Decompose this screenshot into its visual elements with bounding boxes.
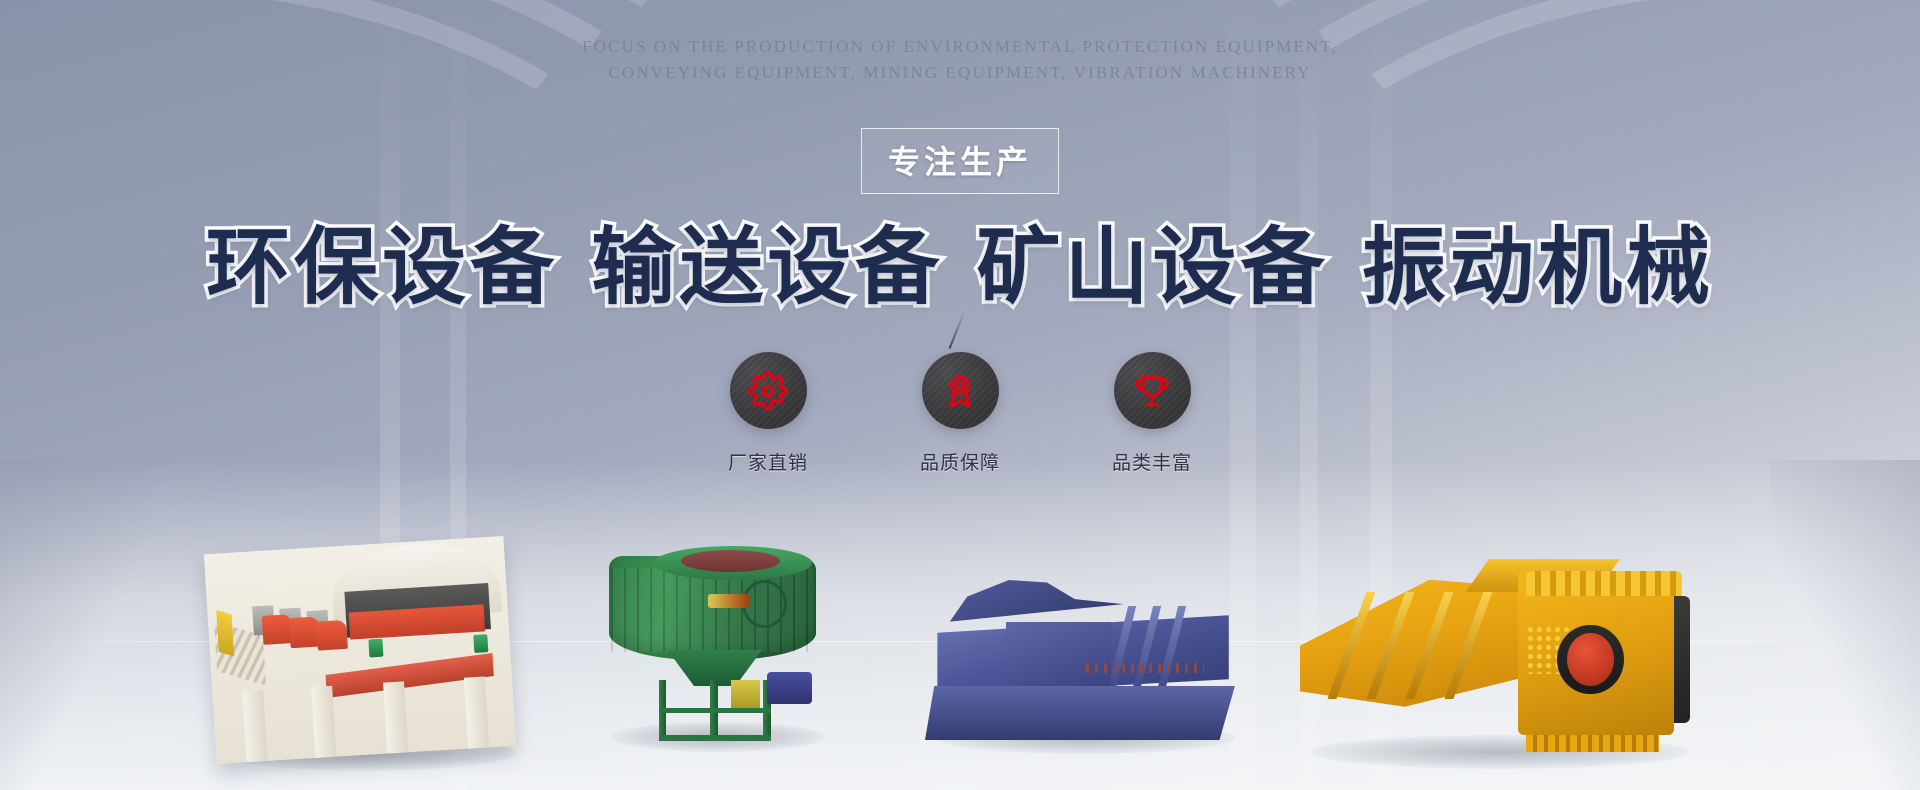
product-image-row xyxy=(0,0,1920,790)
product-image-sintering-conveyor-machine xyxy=(204,536,516,764)
hero-banner: FOCUS ON THE PRODUCTION OF ENVIRONMENTAL… xyxy=(0,0,1920,790)
product-image-blue-vibrating-screen xyxy=(925,580,1235,740)
product-image-yellow-jaw-crusher xyxy=(1300,555,1690,760)
product-image-green-disc-feeder xyxy=(600,540,825,740)
